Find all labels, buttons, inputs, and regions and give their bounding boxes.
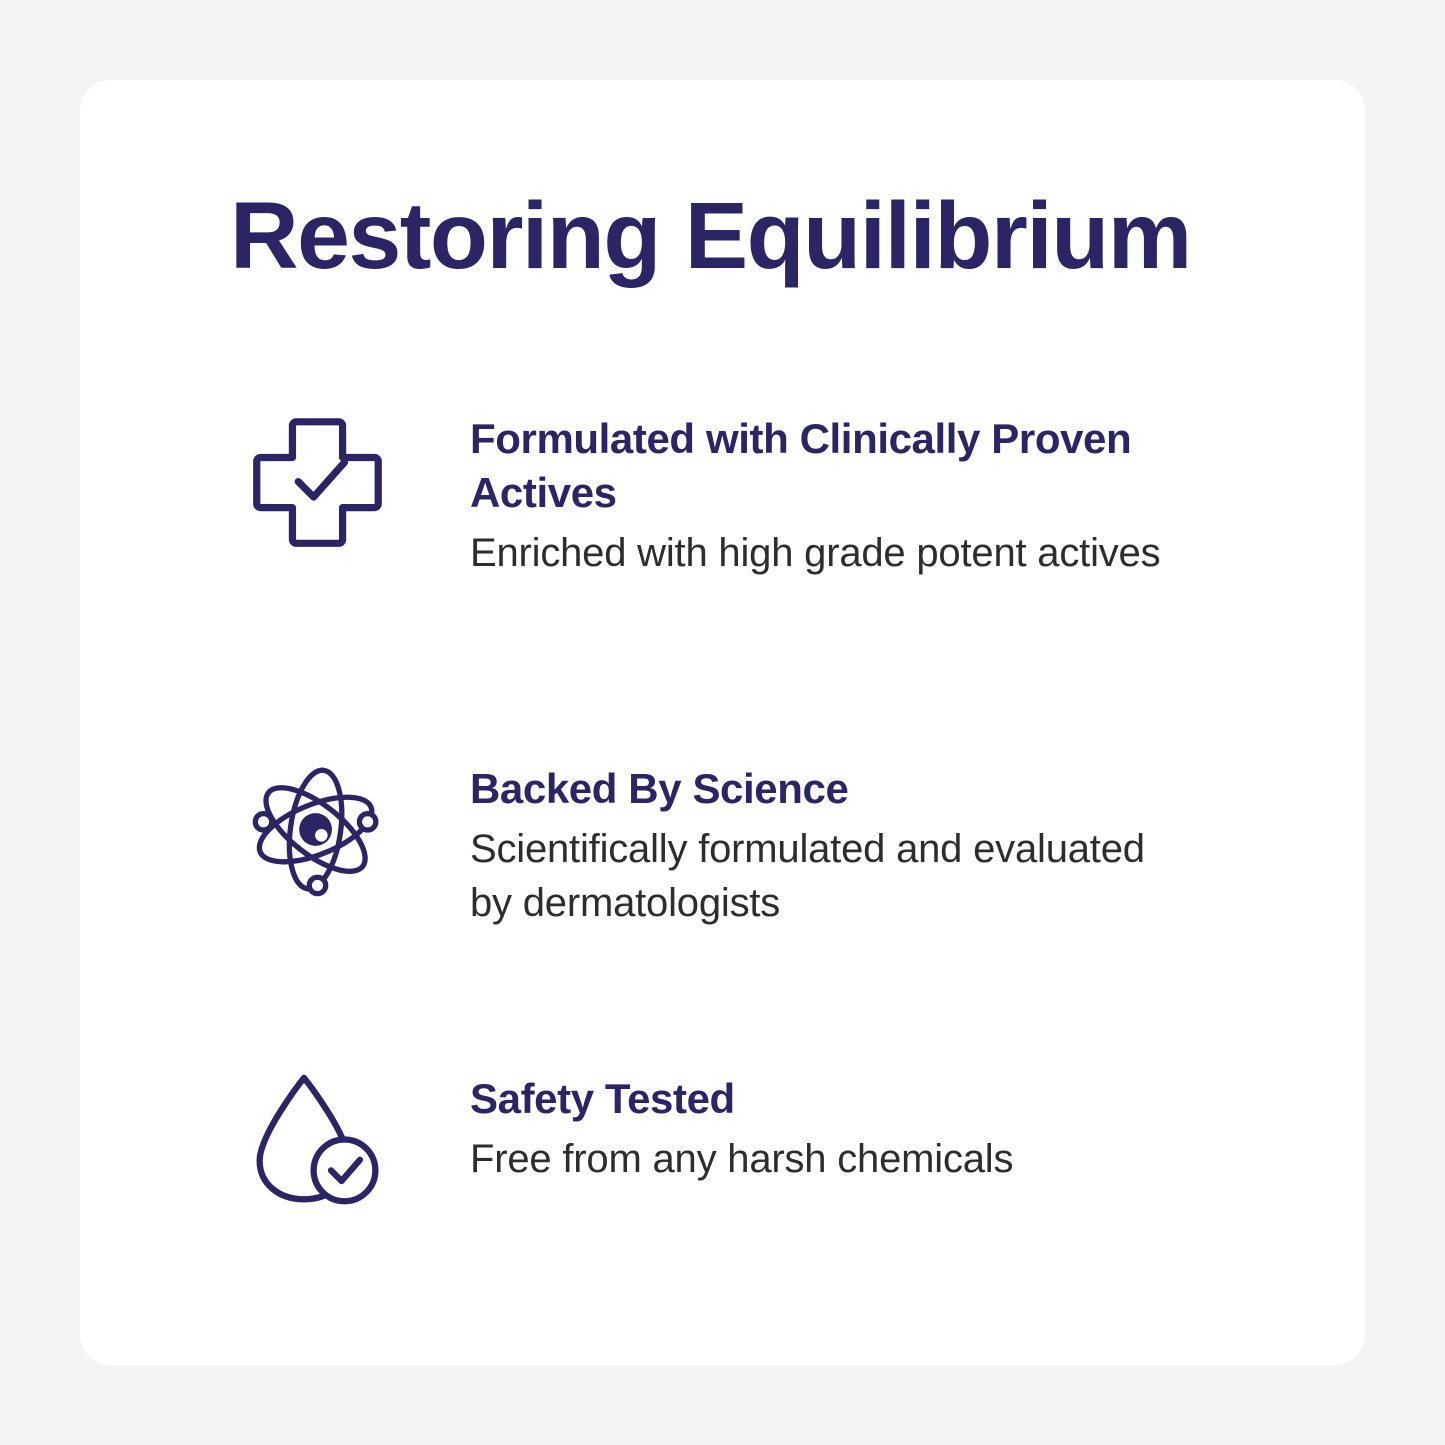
feature-item-clinically-proven-actives: Formulated with Clinically Proven Active… (80, 410, 1365, 580)
feature-item-safety-tested: Safety Tested Free from any harsh chemic… (80, 1070, 1365, 1215)
droplet-check-icon (250, 1070, 400, 1215)
feature-description: Free from any harsh chemicals (470, 1132, 1190, 1186)
feature-text: Backed By Science Scientifically formula… (400, 760, 1190, 930)
atom-icon (250, 760, 400, 905)
page-title: Restoring Equilibrium (230, 181, 1230, 291)
feature-text: Formulated with Clinically Proven Active… (400, 410, 1190, 580)
cross-check-icon (250, 410, 400, 555)
feature-heading: Backed By Science (470, 762, 1190, 816)
feature-heading: Formulated with Clinically Proven Active… (470, 412, 1190, 520)
content-card: Restoring Equilibrium Formulated with Cl… (80, 80, 1365, 1365)
feature-description: Scientifically formulated and evaluated … (470, 822, 1190, 930)
page-root: Restoring Equilibrium Formulated with Cl… (0, 0, 1445, 1445)
feature-item-backed-by-science: Backed By Science Scientifically formula… (80, 760, 1365, 930)
feature-text: Safety Tested Free from any harsh chemic… (400, 1070, 1190, 1186)
feature-description: Enriched with high grade potent actives (470, 526, 1190, 580)
feature-heading: Safety Tested (470, 1072, 1190, 1126)
feature-list: Formulated with Clinically Proven Active… (80, 410, 1365, 1215)
